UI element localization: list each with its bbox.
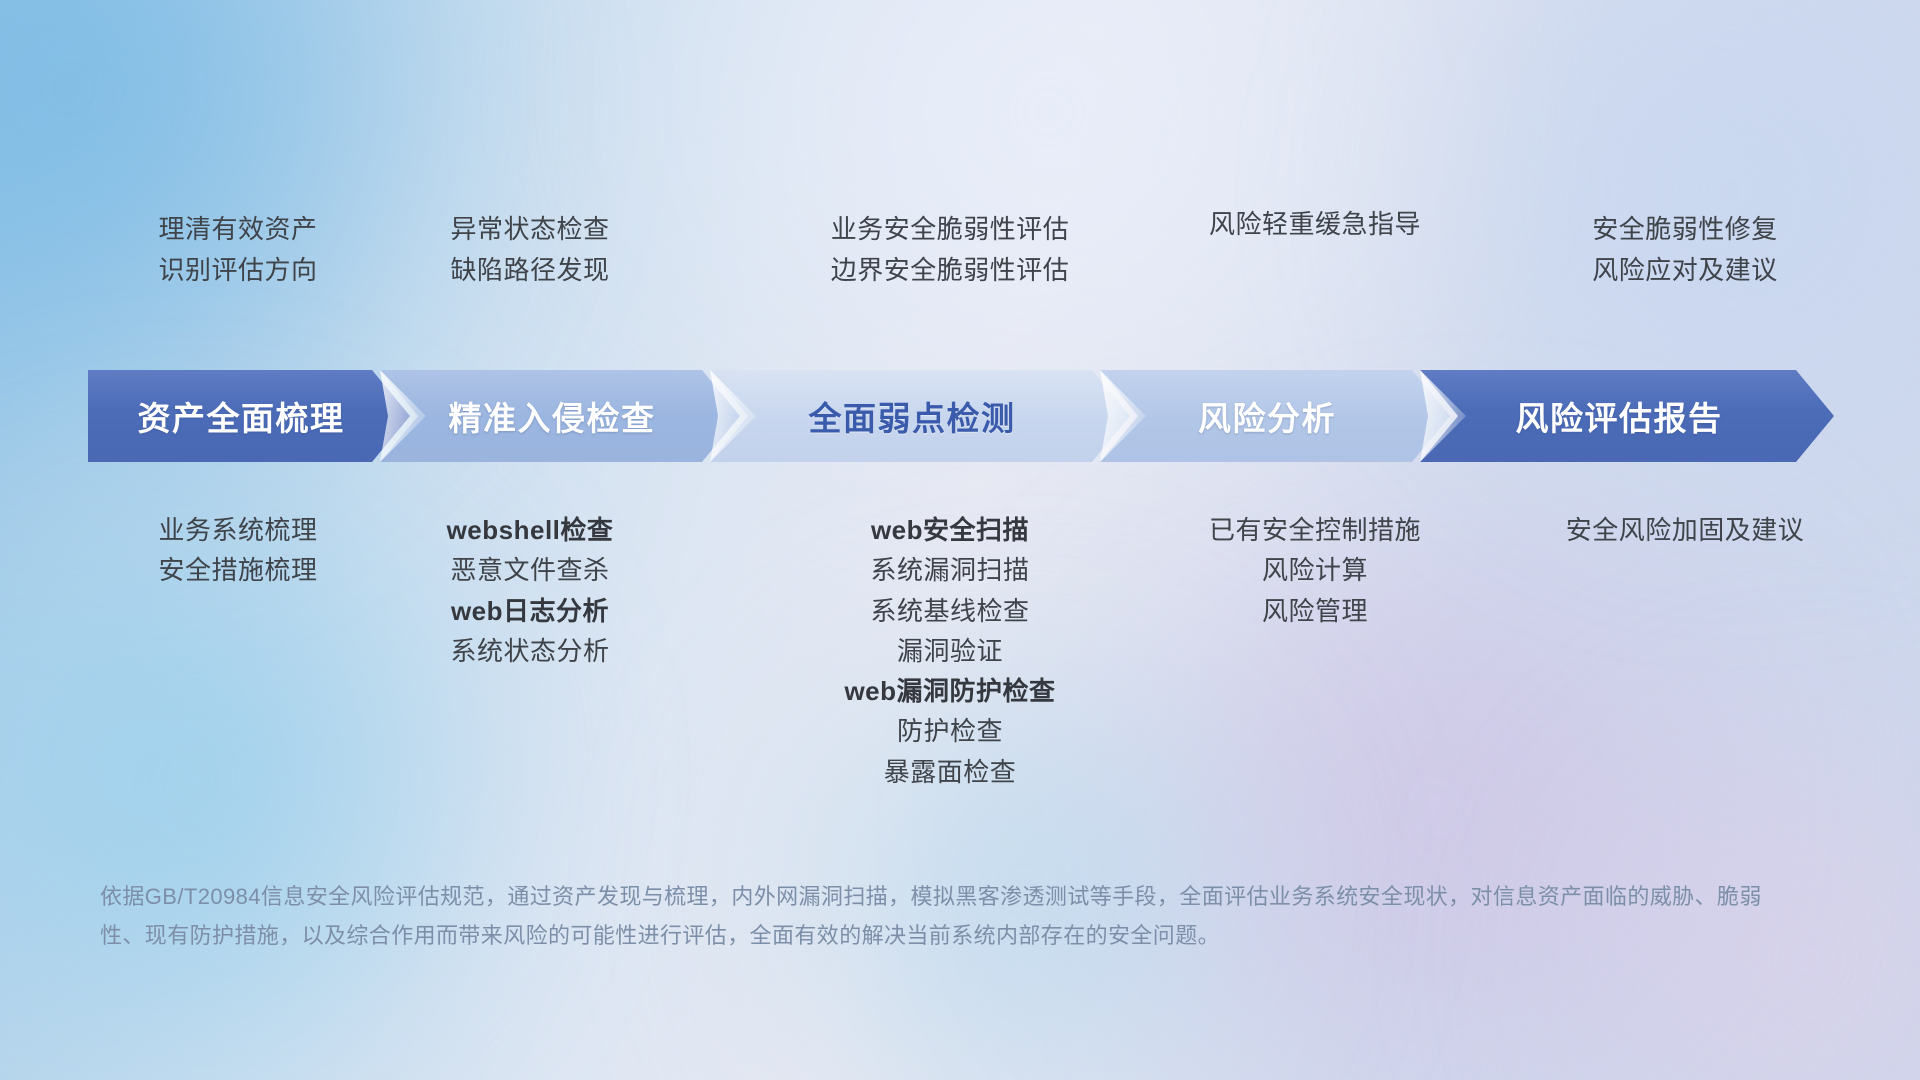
footer-description: 依据GB/T20984信息安全风险评估规范，通过资产发现与梳理，内外网漏洞扫描，… [100,878,1770,955]
stage-2-bottom-list: webshell检查 恶意文件查杀 web日志分析 系统状态分析 [380,510,680,671]
stage-2-bottom-item-1: webshell检查 [380,510,680,550]
stage-4-bottom-item-2: 风险计算 [1160,550,1470,590]
stage-3-bottom-item-2: 系统漏洞扫描 [790,550,1110,590]
stage-1-bottom-item-2: 安全措施梳理 [88,550,388,590]
stage-2-bottom-item-3: web日志分析 [380,591,680,631]
stage-2-bottom-item-4: 系统状态分析 [380,631,680,671]
stage-4-bottom-item-1: 已有安全控制措施 [1160,510,1470,550]
stage-3-bottom-list: web安全扫描 系统漏洞扫描 系统基线检查 漏洞验证 web漏洞防护检查 防护检… [790,510,1110,792]
stage-3-bottom-item-5: web漏洞防护检查 [790,671,1110,711]
slide-canvas: 理清有效资产 识别评估方向 异常状态检查 缺陷路径发现 业务安全脆弱性评估 边界… [0,0,1920,1080]
stage-4-bottom-list: 已有安全控制措施 风险计算 风险管理 [1160,510,1470,631]
stage-4-bottom-item-3: 风险管理 [1160,591,1470,631]
stage-2-bottom-item-2: 恶意文件查杀 [380,550,680,590]
stage-3-bottom-item-6: 防护检查 [790,711,1110,751]
stage-1-bottom-list: 业务系统梳理 安全措施梳理 [88,510,388,591]
stage-5-bottom-item-1: 安全风险加固及建议 [1530,510,1840,550]
stage-1-bottom-item-1: 业务系统梳理 [88,510,388,550]
stage-3-bottom-item-7: 暴露面检查 [790,752,1110,792]
stage-3-bottom-item-4: 漏洞验证 [790,631,1110,671]
stage-5-bottom-list: 安全风险加固及建议 [1530,510,1840,550]
stage-3-bottom-item-3: 系统基线检查 [790,591,1110,631]
stage-3-bottom-item-1: web安全扫描 [790,510,1110,550]
